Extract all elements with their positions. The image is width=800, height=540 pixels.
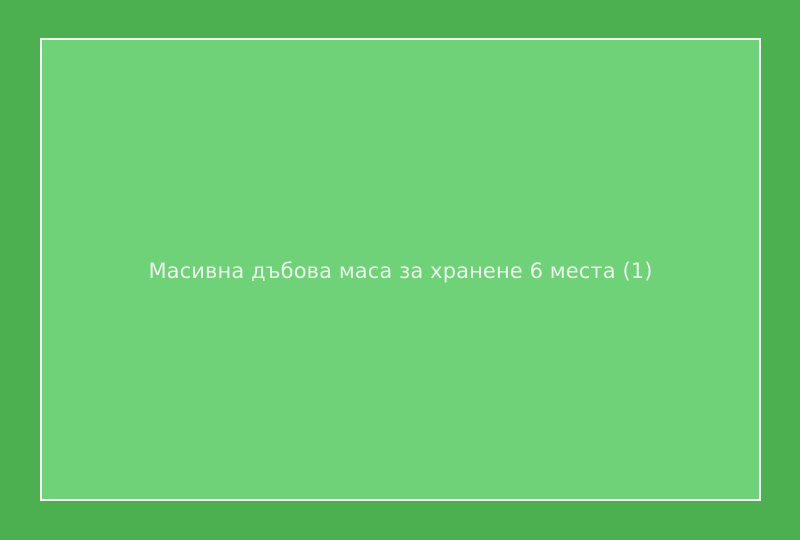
image-placeholder-card: Масивна дъбова маса за хранене 6 места (…	[0, 0, 800, 540]
placeholder-caption: Масивна дъбова маса за хранене 6 места (…	[42, 257, 759, 285]
placeholder-inner-panel: Масивна дъбова маса за хранене 6 места (…	[40, 38, 761, 501]
